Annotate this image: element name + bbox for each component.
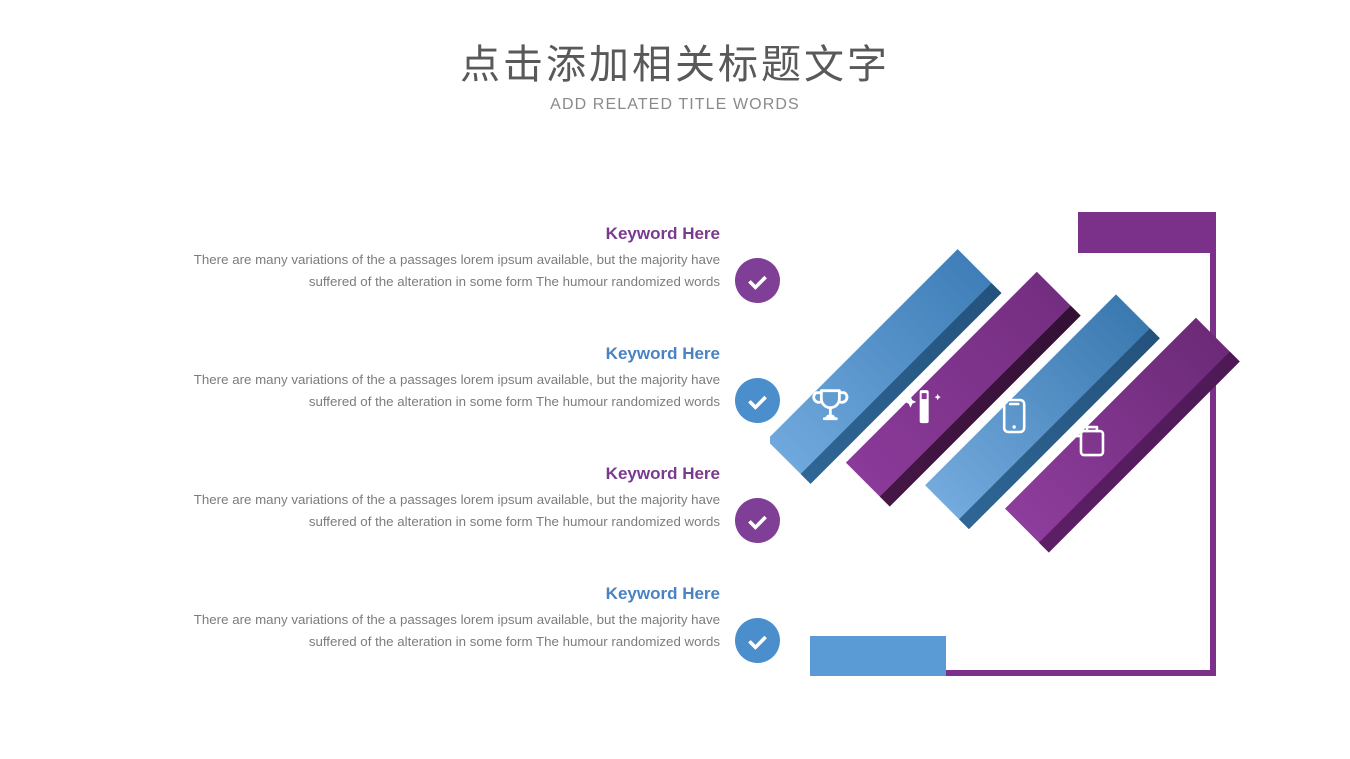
list-item-title: Keyword Here (190, 222, 720, 246)
accent-rect-top (1078, 212, 1216, 253)
list-item[interactable]: Keyword Here There are many variations o… (180, 222, 780, 342)
list-item[interactable]: Keyword Here There are many variations o… (180, 582, 780, 702)
check-icon (745, 628, 770, 653)
check-icon (745, 268, 770, 293)
check-icon (745, 388, 770, 413)
list-item-body: There are many variations of the a passa… (190, 249, 720, 293)
list-item-title: Keyword Here (190, 582, 720, 606)
list-item-text: Keyword Here There are many variations o… (190, 582, 720, 653)
keyword-list: Keyword Here There are many variations o… (180, 222, 780, 702)
diagonal-bars-diagram (770, 195, 1240, 695)
list-item-body: There are many variations of the a passa… (190, 489, 720, 533)
check-icon (745, 508, 770, 533)
list-item-title: Keyword Here (190, 342, 720, 366)
list-item[interactable]: Keyword Here There are many variations o… (180, 342, 780, 462)
list-item[interactable]: Keyword Here There are many variations o… (180, 462, 780, 582)
list-item-body: There are many variations of the a passa… (190, 609, 720, 653)
page-title: 点击添加相关标题文字 ADD RELATED TITLE WORDS (0, 38, 1350, 115)
list-item-text: Keyword Here There are many variations o… (190, 342, 720, 413)
list-item-text: Keyword Here There are many variations o… (190, 462, 720, 533)
accent-rect-bottom (810, 636, 946, 676)
list-item-title: Keyword Here (190, 462, 720, 486)
title-english: ADD RELATED TITLE WORDS (0, 95, 1350, 115)
list-item-body: There are many variations of the a passa… (190, 369, 720, 413)
list-item-text: Keyword Here There are many variations o… (190, 222, 720, 293)
title-chinese: 点击添加相关标题文字 (0, 38, 1350, 92)
